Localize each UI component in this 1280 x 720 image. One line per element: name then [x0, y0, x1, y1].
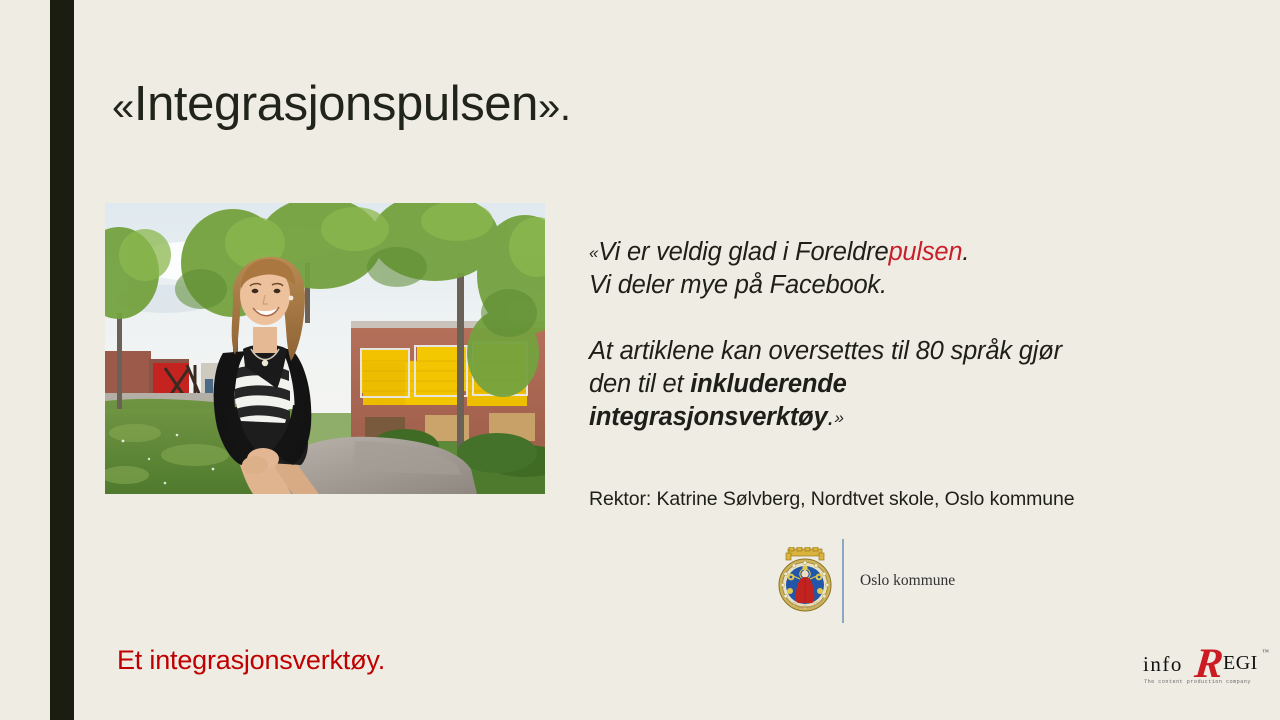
quote-line1-a: Vi er veldig glad i Foreldre: [598, 238, 888, 266]
title-rest: spulsen: [372, 77, 538, 131]
title-open-guillemet: «: [112, 85, 134, 129]
bottom-tagline: Et integrasjonsverktøy.: [117, 643, 385, 677]
quote-paragraph-1: «Vi er veldig glad i Foreldrepulsen. Vi …: [589, 236, 1239, 302]
slide-canvas: «Integrasjonspulsen».: [0, 0, 1280, 720]
oslo-logo-label: Oslo kommune: [860, 572, 955, 590]
inforegi-wordmark: info R EGI ™: [1143, 646, 1271, 678]
quote-attribution: Rektor: Katrine Sølvberg, Nordtvet skole…: [589, 486, 1075, 512]
quote-line1-highlight: pulsen: [888, 238, 962, 266]
quote-line4-bold: inkluderende: [690, 370, 846, 398]
oslo-coat-of-arms-icon: [776, 547, 834, 615]
oslo-kommune-logo: Oslo kommune: [776, 539, 976, 623]
portrait-photo: [105, 203, 545, 494]
quote-line5-bold: integrasjonsverktøy: [589, 403, 828, 431]
quote-close-guillemet: »: [834, 408, 843, 427]
inforegi-egi-text: EGI: [1223, 652, 1258, 675]
quote-paragraph-2: At artiklene kan oversettes til 80 språk…: [589, 335, 1239, 434]
title-close-guillemet: ».: [538, 85, 571, 129]
photo-frame: [105, 203, 545, 494]
quote-line3: At artiklene kan oversettes til 80 språk…: [589, 337, 1062, 365]
inforegi-trademark-symbol: ™: [1262, 648, 1269, 656]
quote-line1-b: .: [962, 238, 969, 266]
oslo-logo-divider: [842, 539, 844, 623]
inforegi-info-text: info: [1143, 652, 1183, 677]
page-title: «Integrasjonspulsen».: [112, 74, 571, 137]
quote-block: «Vi er veldig glad i Foreldrepulsen. Vi …: [589, 236, 1239, 434]
quote-open-guillemet: «: [589, 243, 598, 262]
title-main: Integrasjon: [134, 77, 372, 131]
quote-line4-a: den til et: [589, 370, 690, 398]
inforegi-tagline: The content production company: [1144, 679, 1251, 685]
quote-line2: Vi deler mye på Facebook.: [589, 271, 887, 299]
inforegi-logo: info R EGI ™ The content production comp…: [1143, 646, 1271, 696]
left-accent-bar: [50, 0, 74, 720]
